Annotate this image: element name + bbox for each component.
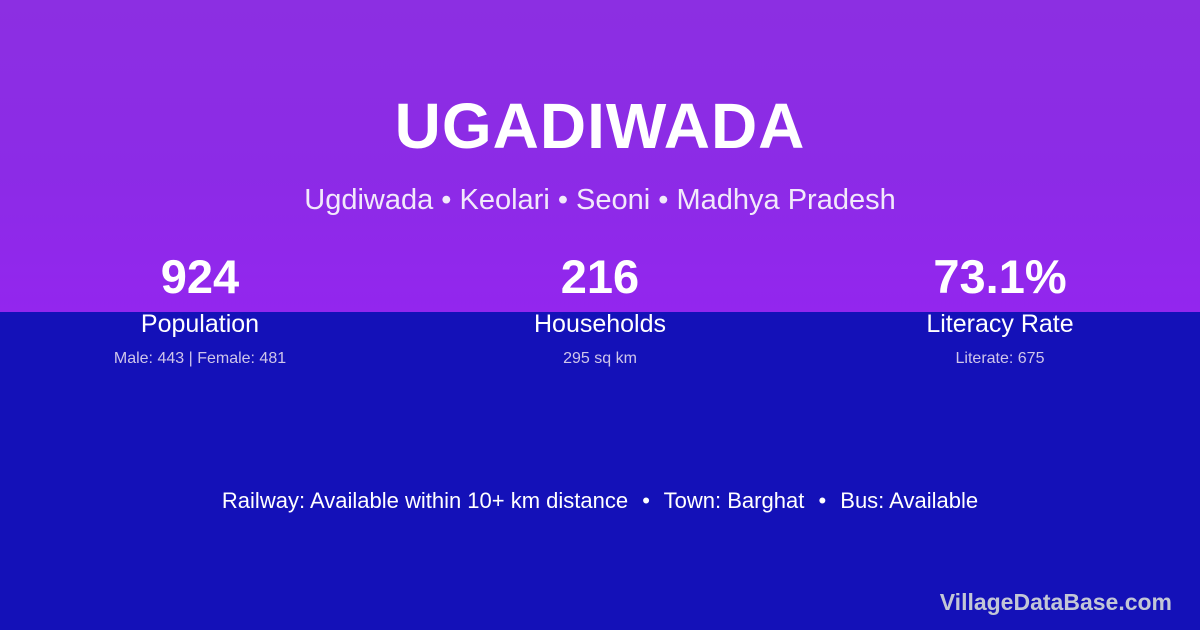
stat-value: 73.1% <box>800 248 1200 306</box>
stat-label: Population <box>0 308 400 340</box>
stat-households: 216 Households 295 sq km <box>400 248 800 370</box>
site-brand: VillageDataBase.com <box>940 587 1172 617</box>
stat-label: Households <box>400 308 800 340</box>
stat-label: Literacy Rate <box>800 308 1200 340</box>
stat-literacy-rate: 73.1% Literacy Rate Literate: 675 <box>800 248 1200 370</box>
facility-bus: Bus: Available <box>840 488 978 513</box>
stat-sublabel: Literate: 675 <box>800 348 1200 370</box>
stat-value: 216 <box>400 248 800 306</box>
facilities-line: Railway: Available within 10+ km distanc… <box>0 486 1200 516</box>
facility-town: Town: Barghat <box>664 488 805 513</box>
facility-separator: • <box>810 488 834 513</box>
page-title: UGADIWADA <box>0 88 1200 164</box>
village-info-card: UGADIWADA Ugdiwada • Keolari • Seoni • M… <box>0 0 1200 630</box>
stat-sublabel: 295 sq km <box>400 348 800 370</box>
stat-population: 924 Population Male: 443 | Female: 481 <box>0 248 400 370</box>
stat-sublabel: Male: 443 | Female: 481 <box>0 348 400 370</box>
stat-value: 924 <box>0 248 400 306</box>
stats-row: 924 Population Male: 443 | Female: 481 2… <box>0 248 1200 370</box>
facility-railway: Railway: Available within 10+ km distanc… <box>222 488 628 513</box>
breadcrumb: Ugdiwada • Keolari • Seoni • Madhya Prad… <box>0 182 1200 218</box>
facility-separator: • <box>634 488 658 513</box>
